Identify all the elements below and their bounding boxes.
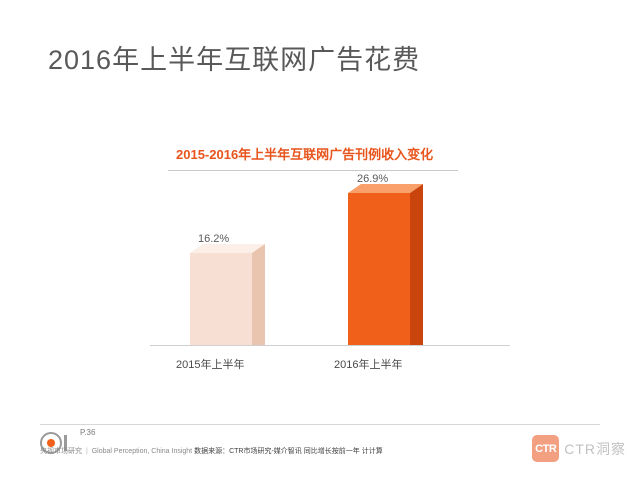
page-number: P.36 [80,428,95,437]
bar-2016 [348,193,410,345]
footer-divider [40,424,600,425]
watermark-text: CTR洞察 [564,439,626,459]
chart-baseline [150,345,510,346]
footer-brand-cn: 央视市场研究 [40,448,82,455]
bar-2016-side-face [410,193,423,345]
bar-2015-top-face [190,244,265,253]
chart-plot-area: 16.2% 26.9% 2015年上半年 2016年上半年 [120,180,550,380]
bar-2015 [190,253,252,345]
footer: P.36 央视市场研究 | Global Perception, China I… [40,428,600,464]
bar-2015-side-face [252,253,265,345]
chart-title-divider [168,170,458,171]
footer-brand-en: Global Perception, China Insight [92,448,192,455]
watermark-badge: CTR [532,435,559,462]
value-label-2016: 26.9% [357,173,388,185]
category-label-2016: 2016年上半年 [334,356,402,372]
watermark: CTR CTR洞察 [532,435,626,462]
footer-source-tail: 计计算 [362,448,383,455]
category-label-2015: 2015年上半年 [176,356,244,372]
chart-title: 2015-2016年上半年互联网广告刊例收入变化 [176,144,433,163]
bar-2016-top-face [348,184,423,193]
page-title: 2016年上半年互联网广告花费 [48,38,420,77]
footer-source: 数据来源：CTR市场研究-媒介智讯 同比增长按前一年 [194,448,360,455]
footer-text: 央视市场研究 | Global Perception, China Insigh… [40,446,383,456]
chart-container: 2015-2016年上半年互联网广告刊例收入变化 16.2% 26.9% 201… [120,130,550,390]
value-label-2015: 16.2% [198,233,229,245]
bar-2016-front-face [348,193,410,345]
footer-separator-1: | [84,448,90,455]
slide: 2016年上半年互联网广告花费 2015-2016年上半年互联网广告刊例收入变化… [0,0,640,478]
bar-2015-front-face [190,253,252,345]
